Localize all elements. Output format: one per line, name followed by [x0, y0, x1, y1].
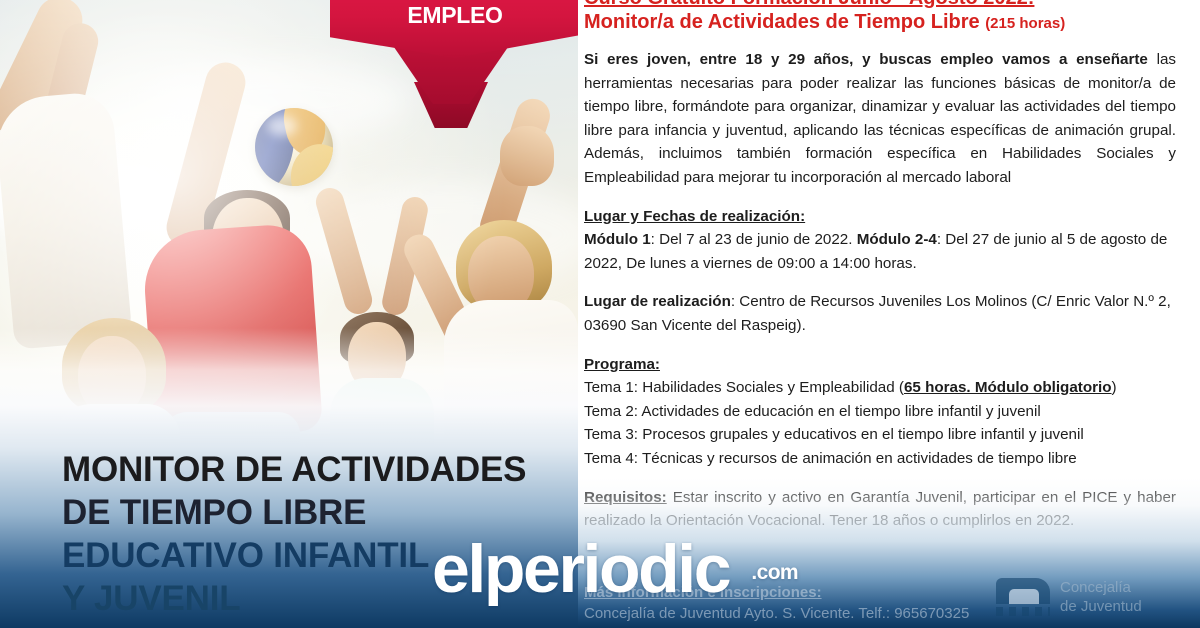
- person-torso: [0, 90, 133, 349]
- course-heading-line-1: Curso Gratuito Formación Junio - Agosto …: [584, 0, 1176, 10]
- logo-text: Concejalía de Juventud: [1060, 578, 1142, 616]
- requirements-label: Requisitos:: [584, 489, 667, 506]
- program-heading: Programa:: [584, 353, 1176, 377]
- watermark-name: elperiodic: [432, 531, 729, 607]
- program-tema-3: Tema 3: Procesos grupales y educativos e…: [584, 423, 1176, 447]
- course-hours: (215 horas): [985, 15, 1065, 32]
- dates-heading: Lugar y Fechas de realización:: [584, 205, 1176, 229]
- venue-body: Lugar de realización: Centro de Recursos…: [584, 290, 1176, 337]
- volleyball-icon: [255, 108, 333, 186]
- elperiodic-watermark: elperiodic.com: [432, 534, 792, 612]
- screenshot-root: Programa Integral de CUALIFICACIÓN Y EMP…: [0, 0, 1200, 628]
- intro-rest: las herramientas necesarias para poder r…: [584, 51, 1176, 186]
- logo-line-2: de Juventud: [1060, 597, 1142, 616]
- program-ribbon-banner: Programa Integral de CUALIFICACIÓN Y EMP…: [330, 0, 578, 94]
- dates-section: Lugar y Fechas de realización: Módulo 1:…: [584, 205, 1176, 276]
- requirements-section: Requisitos: Estar inscrito y activo en G…: [584, 486, 1176, 533]
- person-torso-red-shirt: [141, 222, 323, 441]
- course-intro-paragraph: Si eres joven, entre 18 y 29 años, y bus…: [584, 48, 1176, 190]
- person-hand: [500, 126, 554, 186]
- program-section: Programa: Tema 1: Habilidades Sociales y…: [584, 353, 1176, 471]
- logo-line-1: Concejalía: [1060, 578, 1142, 597]
- tema-1-hours: 65 horas. Módulo obligatorio: [904, 379, 1112, 396]
- program-tema-1: Tema 1: Habilidades Sociales y Empleabil…: [584, 376, 1176, 400]
- poster-title-line-1: MONITOR DE ACTIVIDADES: [62, 448, 568, 491]
- venue-section: Lugar de realización: Centro de Recursos…: [584, 290, 1176, 337]
- modulo-1-label: Módulo 1: [584, 231, 651, 248]
- course-heading: Curso Gratuito Formación Junio - Agosto …: [584, 0, 1176, 36]
- venue-label: Lugar de realización: [584, 293, 731, 310]
- modulo-1-text: : Del 7 al 23 de junio de 2022.: [651, 231, 857, 248]
- course-heading-line-2: Monitor/a de Actividades de Tiempo Libre…: [584, 10, 1176, 36]
- program-tema-4: Tema 4: Técnicas y recursos de animación…: [584, 447, 1176, 471]
- requirements-text: Estar inscrito y activo en Garantía Juve…: [584, 489, 1176, 530]
- logo-mark-icon: [996, 578, 1050, 604]
- program-tema-2: Tema 2: Actividades de educación en el t…: [584, 400, 1176, 424]
- watermark-domain: .com: [751, 538, 798, 608]
- intro-bold-lead: Si eres joven, entre 18 y 29 años, y bus…: [584, 51, 1148, 68]
- poster-title-line-2: DE TIEMPO LIBRE: [62, 491, 568, 534]
- logo-dots-icon: [996, 607, 1050, 616]
- dates-body: Módulo 1: Del 7 al 23 de junio de 2022. …: [584, 228, 1176, 275]
- modulo-24-label: Módulo 2-4: [857, 231, 937, 248]
- ribbon-line-3: Y EMPLEO: [407, 0, 553, 28]
- concejalia-de-juventud-logo: Concejalía de Juventud: [992, 576, 1192, 622]
